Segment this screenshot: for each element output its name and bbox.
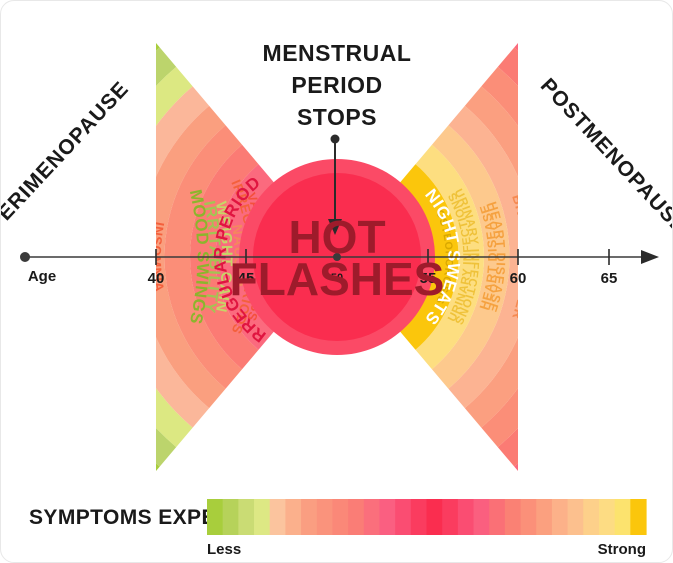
legend-gradient-bar (207, 499, 647, 535)
legend-swatch (536, 499, 552, 535)
legend-swatch (411, 499, 427, 535)
legend-swatch (442, 499, 458, 535)
legend-swatch (521, 499, 537, 535)
phase-label-perimenopause: PERIMENOPAUSE (1, 77, 133, 236)
title-line-1: MENSTRUAL (263, 40, 412, 66)
legend-swatch (552, 499, 568, 535)
axis-arrow-icon (641, 250, 659, 264)
legend-less-label: Less (207, 541, 241, 558)
legend-swatch (238, 499, 254, 535)
legend-swatch (474, 499, 490, 535)
legend-swatch (458, 499, 474, 535)
flashes-label: FLASHES (230, 253, 445, 305)
axis-tick-label: 65 (601, 270, 618, 287)
legend-swatch (615, 499, 631, 535)
legend-swatch (254, 499, 270, 535)
title-line-2: PERIOD (291, 72, 382, 98)
title-line-3: STOPS (297, 104, 377, 130)
legend-swatch (207, 499, 223, 535)
legend-swatch (630, 499, 646, 535)
axis-age-label: Age (28, 268, 56, 285)
legend: SYMPTOMS EXPERIENCE Less Strong (29, 499, 647, 558)
legend-swatch (599, 499, 615, 535)
legend-swatch (270, 499, 286, 535)
legend-swatch (505, 499, 521, 535)
legend-swatch (379, 499, 395, 535)
legend-swatch (317, 499, 333, 535)
legend-swatch (583, 499, 599, 535)
legend-strong-label: Strong (598, 541, 646, 558)
legend-swatch (568, 499, 584, 535)
legend-swatch (395, 499, 411, 535)
axis-tick-label: 40 (148, 270, 165, 287)
phase-label-postmenopause: POSTMENOPAUSE (536, 74, 673, 239)
legend-swatch (427, 499, 443, 535)
infographic-page: MOOD SWINGSIRRITABILITYWEIGHT GAINNAUSEA… (0, 0, 673, 563)
axis-start-dot (20, 252, 30, 262)
legend-swatch (489, 499, 505, 535)
legend-swatch (301, 499, 317, 535)
axis-tick-label: 60 (510, 270, 527, 287)
legend-swatch (332, 499, 348, 535)
legend-swatch (223, 499, 239, 535)
legend-swatch (285, 499, 301, 535)
legend-swatch (364, 499, 380, 535)
menopause-timeline-chart: MOOD SWINGSIRRITABILITYWEIGHT GAINNAUSEA… (1, 1, 673, 563)
legend-swatch (348, 499, 364, 535)
